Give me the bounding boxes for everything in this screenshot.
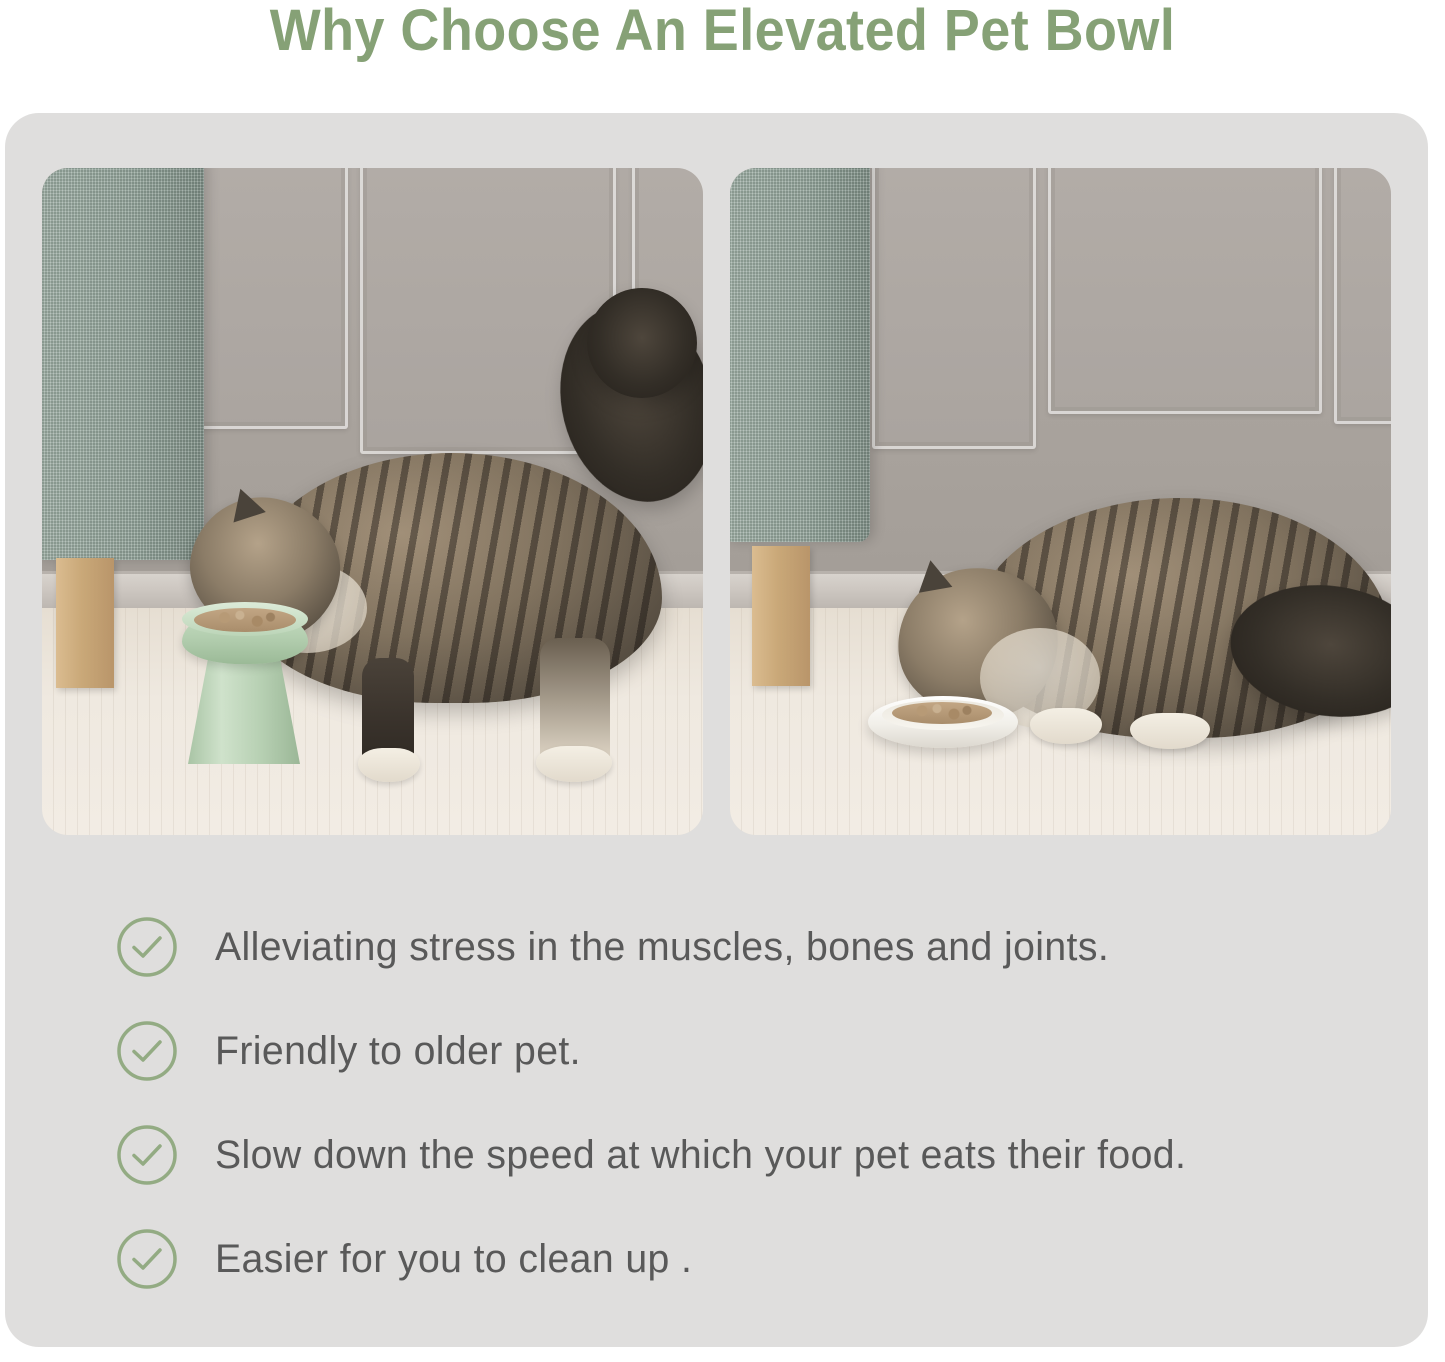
content-card: Alleviating stress in the muscles, bones… (5, 113, 1428, 1347)
check-circle-icon (115, 1123, 179, 1187)
bowl-food (194, 608, 296, 632)
wall-panel-center (1048, 168, 1322, 414)
benefits-list: Alleviating stress in the muscles, bones… (115, 895, 1405, 1311)
benefit-label: Friendly to older pet. (215, 1028, 581, 1074)
dish-food (892, 702, 992, 724)
sofa-arm-fabric (730, 168, 870, 542)
photo-cat-eating-from-elevated-bowl (42, 168, 703, 835)
wall-panel-left (192, 168, 348, 429)
page-title: Why Choose An Elevated Pet Bowl (51, 0, 1395, 66)
check-circle-icon (115, 915, 179, 979)
photo-cat-eating-from-floor-dish (730, 168, 1391, 835)
comparison-photo-row (42, 168, 1391, 835)
benefit-item: Easier for you to clean up . (115, 1207, 1405, 1311)
benefit-item: Alleviating stress in the muscles, bones… (115, 895, 1405, 999)
check-circle-icon (115, 1227, 179, 1291)
check-circle-icon (115, 1019, 179, 1083)
benefit-item: Slow down the speed at which your pet ea… (115, 1103, 1405, 1207)
sofa-arm-fabric (42, 168, 204, 560)
sofa-leg (752, 546, 810, 686)
cat-ear (914, 557, 953, 592)
sofa-leg (56, 558, 114, 688)
cat-tail-tip (587, 288, 697, 398)
wall-panel-left (872, 168, 1036, 449)
benefit-item: Friendly to older pet. (115, 999, 1405, 1103)
benefit-label: Alleviating stress in the muscles, bones… (215, 924, 1109, 970)
benefit-label: Slow down the speed at which your pet ea… (215, 1132, 1186, 1178)
wall-panel-right (1334, 168, 1391, 424)
benefit-label: Easier for you to clean up . (215, 1236, 692, 1282)
